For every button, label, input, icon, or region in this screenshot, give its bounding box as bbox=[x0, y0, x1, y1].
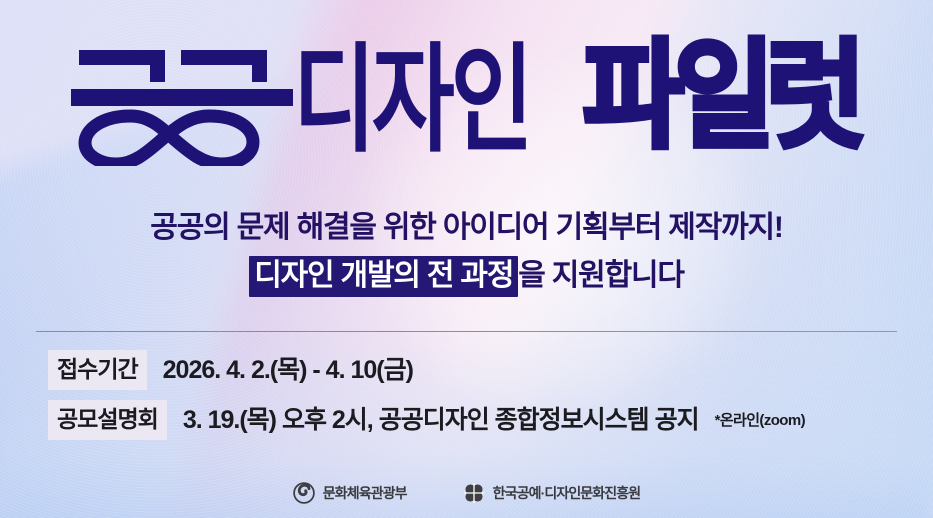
info-label-application-period: 접수기간 bbox=[48, 350, 147, 390]
subtitle-line-1: 공공의 문제 해결을 위한 아이디어 기획부터 제작까지! bbox=[0, 206, 933, 250]
poster-content: 디자인 파일럿 공공의 문제 해결을 위한 아이디어 기획부터 제작까지! 디자… bbox=[0, 0, 933, 518]
logotype-word-pilot: 파일럿 bbox=[583, 38, 857, 156]
gonggong-infinity-svg bbox=[71, 44, 293, 166]
gonggong-infinity-mark bbox=[71, 44, 293, 166]
subtitle-block: 공공의 문제 해결을 위한 아이디어 기획부터 제작까지! 디자인 개발의 전 … bbox=[0, 206, 933, 298]
poster-root: 디자인 파일럿 공공의 문제 해결을 위한 아이디어 기획부터 제작까지! 디자… bbox=[0, 0, 933, 518]
subtitle-highlight: 디자인 개발의 전 과정 bbox=[249, 256, 518, 297]
subtitle-line-2-rest: 을 지원합니다 bbox=[518, 259, 684, 292]
info-value-application-period: 2026. 4. 2.(목) - 4. 10(금) bbox=[163, 358, 413, 383]
infinity-glyph bbox=[85, 116, 253, 164]
taegeuk-circle-icon bbox=[293, 482, 315, 504]
logotype: 디자인 파일럿 bbox=[0, 44, 933, 166]
info-row: 접수기간 2026. 4. 2.(목) - 4. 10(금) bbox=[48, 350, 805, 390]
logotype-word-design: 디자인 bbox=[293, 42, 529, 160]
footer-logo-mcst: 문화체육관광부 bbox=[293, 482, 407, 504]
info-value-briefing-session: 3. 19.(목) 오후 2시, 공공디자인 종합정보시스템 공지 bbox=[183, 408, 699, 433]
info-note-online-zoom: *온라인(zoom) bbox=[715, 413, 805, 428]
info-row: 공모설명회 3. 19.(목) 오후 2시, 공공디자인 종합정보시스템 공지 … bbox=[48, 400, 805, 440]
footer-logo-mcst-label: 문화체육관광부 bbox=[323, 486, 407, 500]
subtitle-line-2: 디자인 개발의 전 과정을 지원합니다 bbox=[0, 254, 933, 298]
four-petal-flower-icon bbox=[463, 482, 485, 504]
footer-logos: 문화체육관광부 한국공예·디자인문화진흥원 bbox=[0, 482, 933, 504]
footer-logo-kcdf: 한국공예·디자인문화진흥원 bbox=[463, 482, 641, 504]
info-label-briefing-session: 공모설명회 bbox=[48, 400, 167, 440]
footer-logo-kcdf-label: 한국공예·디자인문화진흥원 bbox=[493, 486, 641, 500]
horizontal-divider bbox=[36, 331, 897, 332]
info-list: 접수기간 2026. 4. 2.(목) - 4. 10(금) 공모설명회 3. … bbox=[48, 350, 805, 440]
